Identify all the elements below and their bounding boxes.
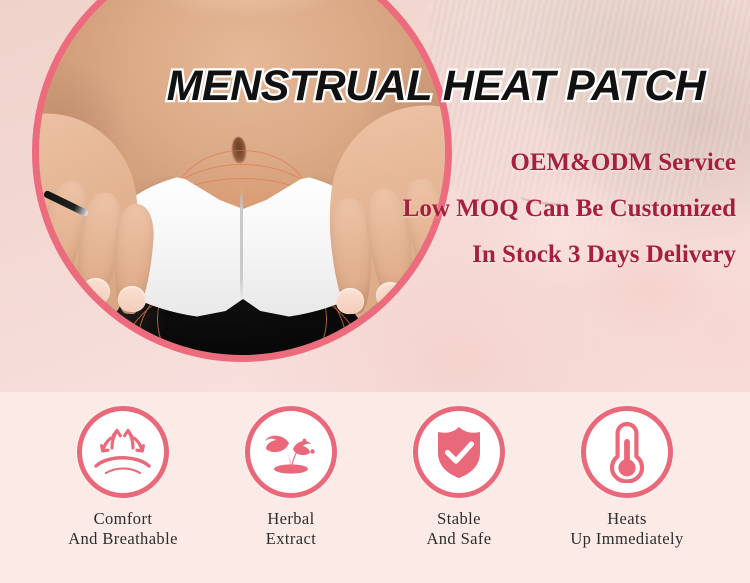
feature-heats[interactable]: Heats Up Immediately <box>543 406 711 549</box>
feature-stable[interactable]: Stable And Safe <box>375 406 543 549</box>
page-title: MENSTRUAL HEAT PATCH <box>0 62 750 110</box>
hero-section: MENSTRUAL HEAT PATCH OEM&ODM Service Low… <box>0 0 750 392</box>
feature-label-heats: Heats Up Immediately <box>570 509 683 549</box>
feature-label-herbal: Herbal Extract <box>266 509 316 549</box>
product-banner: MENSTRUAL HEAT PATCH OEM&ODM Service Low… <box>0 0 750 583</box>
feature-label-comfort: Comfort And Breathable <box>68 509 178 549</box>
feature-icon-circle-comfort <box>77 406 169 498</box>
feature-label-stable: Stable And Safe <box>426 509 491 549</box>
selling-point-in-stock: In Stock 3 Days Delivery <box>316 232 736 278</box>
thermometer-icon <box>605 421 649 483</box>
feature-strip: Comfort And Breathable Herbal Ext <box>0 392 750 583</box>
breathability-arrows-icon <box>92 424 154 480</box>
heat-patch-seam <box>240 188 243 300</box>
selling-point-oem-odm: OEM&ODM Service <box>316 140 736 186</box>
selling-points-list: OEM&ODM Service Low MOQ Can Be Customize… <box>316 140 736 278</box>
shield-check-icon <box>430 423 488 481</box>
feature-icon-circle-heats <box>581 406 673 498</box>
selling-point-low-moq: Low MOQ Can Be Customized <box>316 186 736 232</box>
feature-comfort[interactable]: Comfort And Breathable <box>39 406 207 549</box>
feature-icon-circle-stable <box>413 406 505 498</box>
sprout-leaf-icon <box>260 424 322 480</box>
feature-icon-circle-herbal <box>245 406 337 498</box>
feature-herbal[interactable]: Herbal Extract <box>207 406 375 549</box>
